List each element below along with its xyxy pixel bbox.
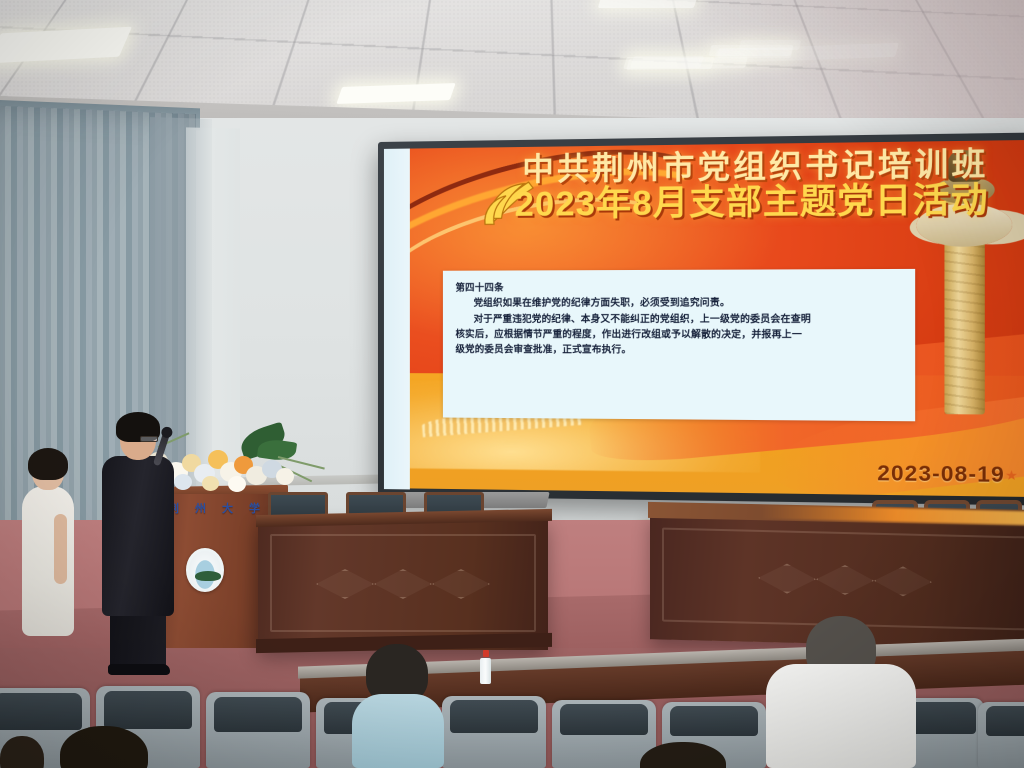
flower	[276, 468, 294, 485]
slide-text-panel: 第四十四条 党组织如果在维护党的纪律方面失职，必须受到追究问责。 对于严重违犯党…	[443, 269, 914, 421]
diamond-shape	[316, 569, 374, 599]
audience-shirt-white	[766, 664, 916, 768]
seat-headrest	[560, 704, 647, 735]
dark-suit	[102, 456, 174, 616]
flower	[228, 476, 246, 492]
slide-date-stamp: 2023-08-19	[877, 461, 1005, 488]
star-icon: ★	[1005, 467, 1018, 484]
diamond-shape	[374, 569, 432, 599]
flower	[202, 476, 219, 491]
slide-text-line: 级党的委员会审查批准，正式宣布执行。	[455, 341, 903, 358]
seat-headrest	[0, 693, 82, 730]
screen-left-margin	[384, 149, 410, 490]
slide-text-line: 党组织如果在维护党的纪律方面失职，必须受到追究问责。	[455, 294, 903, 310]
slide-title-line2: 2023年8月支部主题党日活动	[485, 182, 989, 224]
diamond-shape	[816, 564, 874, 595]
bottle-cap	[483, 650, 489, 657]
projection-screen[interactable]: 中共荆州市党组织书记培训班 2023年8月支部主题党日活动 第四十四条 党组织如…	[378, 133, 1024, 506]
seat-headrest	[670, 706, 757, 736]
diamond-shape	[874, 566, 932, 597]
shoes	[108, 664, 170, 675]
seat-headrest	[104, 691, 191, 729]
hair	[28, 448, 68, 480]
slide-text-heading: 第四十四条	[455, 278, 903, 295]
audience-seat[interactable]	[206, 692, 310, 768]
university-crest	[186, 548, 224, 592]
host-woman	[16, 452, 80, 652]
podium-char: 学	[249, 500, 260, 516]
seat-headrest	[450, 700, 537, 733]
diamond-shape	[758, 563, 816, 594]
slide-text-line: 核实后，应根据情节严重的程度，作出进行改组或予以解散的决定，并报再上一	[455, 326, 903, 342]
table-diamond-ornament	[293, 563, 513, 605]
podium-char: 州	[195, 500, 206, 516]
seat-headrest	[214, 697, 301, 732]
slide-text-line: 对于严重违犯党的纪律、本身又不能纠正的党组织，上一级党的委员会在查明	[455, 310, 903, 326]
eyeglasses	[140, 436, 158, 442]
speaker-man	[96, 414, 182, 664]
diamond-shape	[432, 569, 490, 599]
conference-table-center	[258, 518, 548, 650]
audience-seat[interactable]	[978, 702, 1024, 768]
ceiling-light-panel	[598, 0, 699, 8]
ceiling-light-panel	[739, 40, 801, 50]
ceiling-light-panel	[630, 56, 704, 68]
audience-seat[interactable]	[442, 696, 546, 768]
audience-shirt	[352, 694, 444, 768]
slide-title: 中共荆州市党组织书记培训班 2023年8月支部主题党日活动	[485, 148, 989, 225]
seat-headrest	[986, 706, 1024, 736]
podium-char: 大	[222, 500, 233, 516]
presentation-slide: 中共荆州市党组织书记培训班 2023年8月支部主题党日活动 第四十四条 党组织如…	[408, 140, 1024, 497]
table-diamond-ornament	[697, 556, 993, 604]
arm	[54, 514, 67, 584]
auditorium-scene: 中共荆州市党组织书记培训班 2023年8月支部主题党日活动 第四十四条 党组织如…	[0, 0, 1024, 768]
